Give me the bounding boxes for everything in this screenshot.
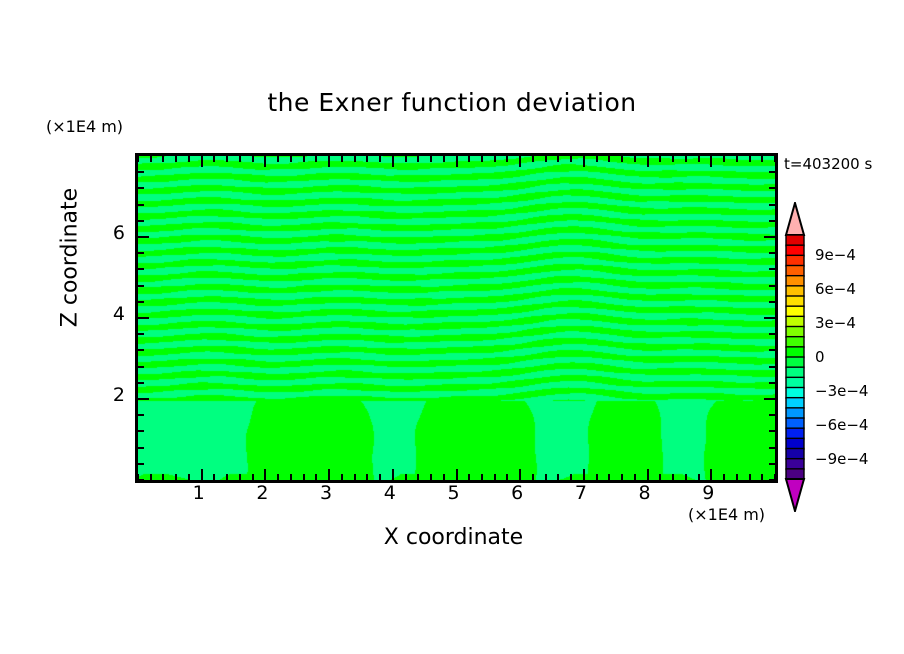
x-axis-title: X coordinate xyxy=(135,525,772,550)
y-axis-tick-right xyxy=(764,236,775,238)
y-axis-tick xyxy=(138,268,144,270)
x-axis-tick xyxy=(723,474,725,480)
x-axis-tick xyxy=(366,474,368,480)
x-axis-tick-top xyxy=(366,156,368,162)
y-axis-tick-right xyxy=(769,333,775,335)
y-axis-tick-right xyxy=(769,414,775,416)
y-tick-label: 4 xyxy=(85,303,125,325)
x-axis-tick xyxy=(354,474,356,480)
x-axis-tick-top xyxy=(621,156,623,162)
x-axis-tick xyxy=(494,474,496,480)
x-axis-tick-top xyxy=(494,156,496,162)
colorbar-band xyxy=(786,306,804,317)
colorbar-band xyxy=(786,266,804,277)
colorbar-band xyxy=(786,296,804,307)
page-title: the Exner function deviation xyxy=(0,88,904,117)
x-axis-tick xyxy=(647,469,649,480)
x-axis-tick-top xyxy=(774,156,776,162)
x-axis-tick-top xyxy=(162,156,164,162)
x-axis-tick-top xyxy=(252,156,254,162)
x-axis-tick xyxy=(519,469,521,480)
colorbar-tick-label: −3e−4 xyxy=(815,382,868,400)
x-axis-tick-top xyxy=(685,156,687,162)
x-axis-tick xyxy=(570,474,572,480)
colorbar-band xyxy=(786,418,804,429)
x-tick-label: 2 xyxy=(242,482,282,504)
colorbar-band xyxy=(786,337,804,348)
y-axis-tick-right xyxy=(769,349,775,351)
y-axis-tick-right xyxy=(769,252,775,254)
colorbar-band xyxy=(786,428,804,439)
y-axis-tick xyxy=(138,236,149,238)
y-axis-tick xyxy=(138,252,144,254)
y-axis-tick xyxy=(138,349,144,351)
x-axis-tick xyxy=(417,474,419,480)
colorbar-band xyxy=(786,377,804,388)
x-axis-tick-top xyxy=(468,156,470,162)
x-axis-tick-top xyxy=(506,156,508,162)
x-axis-tick xyxy=(162,474,164,480)
x-axis-tick-top xyxy=(659,156,661,162)
time-annotation: t=403200 s xyxy=(784,155,872,173)
contour-plot-area xyxy=(135,153,778,483)
x-axis-tick xyxy=(456,469,458,480)
y-axis-tick xyxy=(138,204,144,206)
colorbar-band xyxy=(786,276,804,287)
x-tick-label: 3 xyxy=(306,482,346,504)
x-axis-tick xyxy=(634,474,636,480)
x-axis-tick xyxy=(583,469,585,480)
y-axis-tick xyxy=(138,220,144,222)
x-axis-tick-top xyxy=(315,156,317,162)
x-axis-tick xyxy=(468,474,470,480)
x-axis-tick xyxy=(277,474,279,480)
x-axis-tick xyxy=(213,474,215,480)
y-axis-tick-right xyxy=(769,285,775,287)
x-axis-tick xyxy=(443,474,445,480)
x-tick-label: 8 xyxy=(625,482,665,504)
x-axis-tick-top xyxy=(557,156,559,162)
y-axis-tick xyxy=(138,333,144,335)
x-axis-tick-top xyxy=(213,156,215,162)
x-axis-tick xyxy=(341,474,343,480)
x-axis-tick xyxy=(545,474,547,480)
y-axis-title: Z coordinate xyxy=(58,158,83,358)
x-axis-tick-top xyxy=(570,156,572,162)
x-axis-tick-top xyxy=(545,156,547,162)
x-axis-tick xyxy=(506,474,508,480)
x-axis-tick xyxy=(150,474,152,480)
x-axis-tick-top xyxy=(239,156,241,162)
x-axis-tick-top xyxy=(277,156,279,162)
x-axis-tick xyxy=(175,474,177,480)
x-axis-tick-top xyxy=(532,156,534,162)
colorbar-tick-label: 6e−4 xyxy=(815,280,856,298)
x-axis-tick-top xyxy=(456,156,458,167)
x-axis-tick xyxy=(481,474,483,480)
y-axis-tick-right xyxy=(769,366,775,368)
x-tick-label: 4 xyxy=(370,482,410,504)
x-axis-tick xyxy=(392,469,394,480)
y-axis-tick-right xyxy=(769,479,775,481)
x-axis-tick xyxy=(239,474,241,480)
x-axis-tick xyxy=(201,469,203,480)
x-tick-label: 1 xyxy=(179,482,219,504)
x-axis-tick-top xyxy=(379,156,381,162)
x-axis-tick xyxy=(290,474,292,480)
colorbar-band xyxy=(786,469,804,480)
x-axis-tick-top xyxy=(698,156,700,162)
x-axis-tick xyxy=(608,474,610,480)
colorbar-band xyxy=(786,408,804,419)
x-axis-tick xyxy=(430,474,432,480)
x-axis-tick xyxy=(557,474,559,480)
colorbar-band xyxy=(786,398,804,409)
y-axis-tick xyxy=(138,366,144,368)
x-axis-tick xyxy=(749,474,751,480)
y-axis-tick xyxy=(138,285,144,287)
y-axis-tick-right xyxy=(769,430,775,432)
y-axis-tick-right xyxy=(769,463,775,465)
x-axis-tick xyxy=(226,474,228,480)
x-axis-tick xyxy=(303,474,305,480)
y-axis-tick xyxy=(138,463,144,465)
x-axis-tick-top xyxy=(341,156,343,162)
x-axis-tick-top xyxy=(596,156,598,162)
x-axis-tick-top xyxy=(137,156,139,162)
x-axis-tick xyxy=(672,474,674,480)
colorbar-tick-label: 3e−4 xyxy=(815,314,856,332)
x-axis-tick xyxy=(379,474,381,480)
x-tick-label: 5 xyxy=(434,482,474,504)
x-axis-tick xyxy=(264,469,266,480)
x-axis-tick xyxy=(188,474,190,480)
y-axis-units-label: (×1E4 m) xyxy=(46,117,123,136)
colorbar-band xyxy=(786,367,804,378)
colorbar-band xyxy=(786,459,804,470)
y-axis-tick xyxy=(138,447,144,449)
x-axis-tick xyxy=(328,469,330,480)
y-axis-tick xyxy=(138,398,149,400)
y-axis-tick xyxy=(138,382,144,384)
x-axis-units-label: (×1E4 m) xyxy=(688,505,765,524)
x-axis-tick-top xyxy=(150,156,152,162)
y-tick-label: 2 xyxy=(85,384,125,406)
x-axis-tick-top xyxy=(583,156,585,167)
x-axis-tick-top xyxy=(175,156,177,162)
x-axis-tick xyxy=(596,474,598,480)
x-axis-tick xyxy=(659,474,661,480)
colorbar-over-arrow xyxy=(786,203,804,235)
colorbar-swatches xyxy=(782,202,808,512)
y-axis-tick xyxy=(138,301,144,303)
x-axis-tick-top xyxy=(761,156,763,162)
contour-field xyxy=(138,156,775,480)
colorbar-band xyxy=(786,438,804,449)
x-axis-tick-top xyxy=(634,156,636,162)
colorbar-band xyxy=(786,388,804,399)
x-axis-tick xyxy=(252,474,254,480)
x-axis-tick-top xyxy=(188,156,190,162)
x-axis-tick-top xyxy=(328,156,330,167)
colorbar-tick-label: −9e−4 xyxy=(815,450,868,468)
x-axis-tick-top xyxy=(723,156,725,162)
x-tick-label: 6 xyxy=(497,482,537,504)
y-axis-tick xyxy=(138,479,144,481)
y-axis-tick-right xyxy=(769,171,775,173)
y-axis-tick-right xyxy=(769,301,775,303)
x-axis-tick-top xyxy=(672,156,674,162)
colorbar-band xyxy=(786,357,804,368)
colorbar-band xyxy=(786,255,804,266)
y-axis-tick xyxy=(138,317,149,319)
colorbar-band xyxy=(786,245,804,256)
x-axis-tick-top xyxy=(443,156,445,162)
x-axis-tick-top xyxy=(303,156,305,162)
colorbar-band xyxy=(786,235,804,246)
x-axis-tick-top xyxy=(201,156,203,167)
x-axis-tick xyxy=(315,474,317,480)
x-axis-tick-top xyxy=(710,156,712,167)
colorbar-band xyxy=(786,449,804,460)
colorbar-band xyxy=(786,347,804,358)
x-axis-tick xyxy=(698,474,700,480)
colorbar-under-arrow xyxy=(786,479,804,511)
y-axis-tick-right xyxy=(769,268,775,270)
y-axis-tick-right xyxy=(769,382,775,384)
x-axis-tick-top xyxy=(264,156,266,167)
x-axis-tick-top xyxy=(647,156,649,167)
y-axis-tick xyxy=(138,430,144,432)
y-axis-tick xyxy=(138,171,144,173)
y-tick-label: 6 xyxy=(85,222,125,244)
y-axis-tick-right xyxy=(769,220,775,222)
colorbar xyxy=(782,202,808,512)
colorbar-band xyxy=(786,286,804,297)
colorbar-band xyxy=(786,327,804,338)
x-axis-tick-top xyxy=(417,156,419,162)
colorbar-tick-label: 9e−4 xyxy=(815,246,856,264)
y-axis-tick-right xyxy=(764,317,775,319)
x-axis-tick-top xyxy=(430,156,432,162)
x-axis-tick-top xyxy=(608,156,610,162)
x-axis-tick xyxy=(532,474,534,480)
x-axis-tick-top xyxy=(481,156,483,162)
x-tick-label: 9 xyxy=(688,482,728,504)
x-axis-tick xyxy=(685,474,687,480)
y-axis-tick-right xyxy=(769,204,775,206)
x-axis-tick-top xyxy=(354,156,356,162)
x-axis-tick-top xyxy=(736,156,738,162)
y-axis-tick-right xyxy=(769,187,775,189)
x-axis-tick-top xyxy=(519,156,521,167)
x-axis-tick-top xyxy=(749,156,751,162)
x-axis-tick xyxy=(736,474,738,480)
y-axis-tick-right xyxy=(764,398,775,400)
colorbar-tick-label: 0 xyxy=(815,348,825,366)
x-axis-tick xyxy=(710,469,712,480)
y-axis-tick xyxy=(138,414,144,416)
x-axis-tick xyxy=(405,474,407,480)
x-axis-tick-top xyxy=(392,156,394,167)
x-axis-tick xyxy=(621,474,623,480)
x-axis-tick-top xyxy=(290,156,292,162)
x-tick-label: 7 xyxy=(561,482,601,504)
x-axis-tick-top xyxy=(405,156,407,162)
colorbar-tick-label: −6e−4 xyxy=(815,416,868,434)
x-axis-tick-top xyxy=(226,156,228,162)
x-axis-tick xyxy=(761,474,763,480)
y-axis-tick xyxy=(138,187,144,189)
colorbar-band xyxy=(786,316,804,327)
y-axis-tick-right xyxy=(769,447,775,449)
